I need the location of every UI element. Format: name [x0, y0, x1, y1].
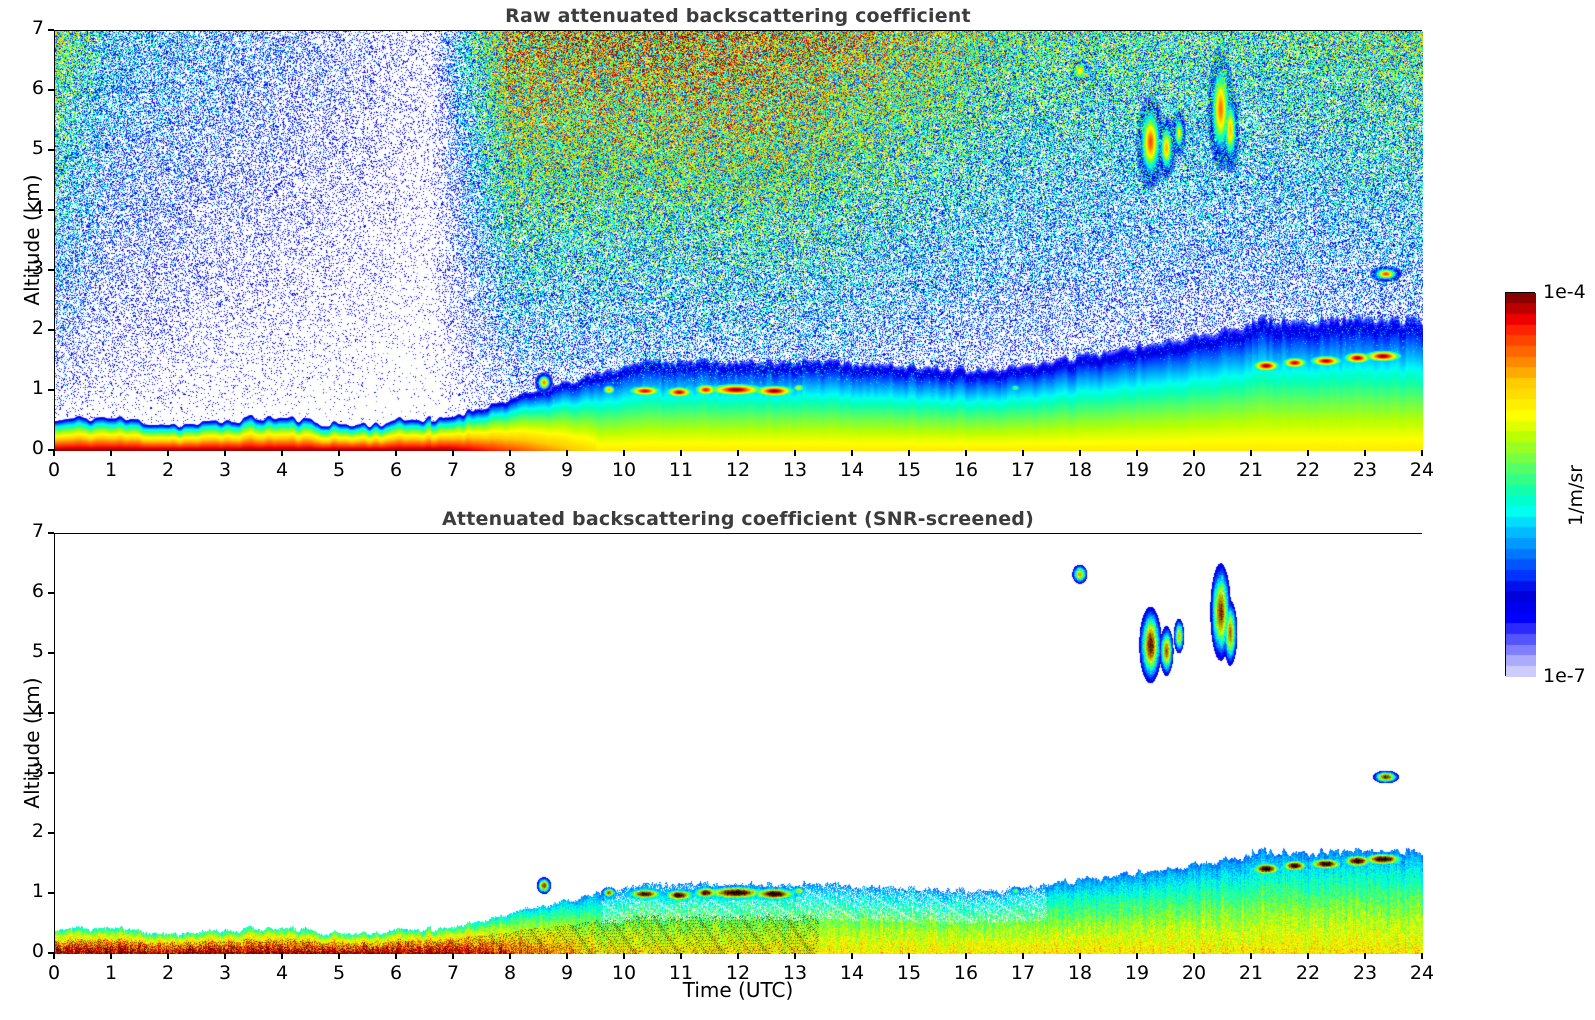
x-tickmark: [1022, 450, 1023, 456]
y-tickmark: [48, 832, 54, 833]
x-tickmark: [737, 953, 738, 959]
y-tickmark: [48, 89, 54, 90]
heatmap-canvas-raw: [55, 31, 1423, 451]
x-tickmark: [1421, 450, 1422, 456]
x-tick-label: 0: [29, 459, 79, 481]
y-tickmark: [48, 952, 54, 953]
y-tick-label: 0: [6, 437, 44, 459]
x-tickmark: [281, 450, 282, 456]
y-tickmark: [48, 449, 54, 450]
x-tickmark: [1079, 953, 1080, 959]
x-tick-label: 5: [314, 459, 364, 481]
x-tick-label: 7: [428, 459, 478, 481]
x-tickmark: [509, 953, 510, 959]
panel-title-raw: Raw attenuated backscattering coefficien…: [54, 5, 1422, 27]
x-tickmark: [167, 450, 168, 456]
x-tickmark: [1250, 450, 1251, 456]
heatmap-canvas-screened: [55, 534, 1423, 954]
y-tickmark: [48, 329, 54, 330]
y-axis-label-raw: Altitude (km): [20, 170, 44, 310]
x-tickmark: [395, 953, 396, 959]
x-tickmark: [167, 953, 168, 959]
y-tick-label: 6: [6, 580, 44, 602]
x-tickmark: [224, 450, 225, 456]
x-tickmark: [281, 953, 282, 959]
x-tickmark: [737, 450, 738, 456]
y-tickmark: [48, 532, 54, 533]
x-tickmark: [338, 450, 339, 456]
figure-root: Raw attenuated backscattering coefficien…: [0, 0, 1595, 1020]
x-tickmark: [680, 953, 681, 959]
y-tickmark: [48, 389, 54, 390]
x-tickmark: [1193, 953, 1194, 959]
x-tick-label: 3: [200, 459, 250, 481]
x-tickmark: [1250, 953, 1251, 959]
x-tickmark: [623, 953, 624, 959]
y-tickmark: [48, 269, 54, 270]
y-tickmark: [48, 712, 54, 713]
y-tick-label: 5: [6, 137, 44, 159]
x-tickmark: [908, 953, 909, 959]
y-tick-label: 2: [6, 820, 44, 842]
x-tickmark: [566, 450, 567, 456]
x-axis-label: Time (UTC): [54, 978, 1422, 1002]
y-tickmark: [48, 149, 54, 150]
colorbar-max-label: 1e-4: [1543, 281, 1586, 303]
x-tick-label: 15: [884, 459, 934, 481]
y-tick-label: 0: [6, 940, 44, 962]
x-tickmark: [1079, 450, 1080, 456]
x-tick-label: 10: [599, 459, 649, 481]
y-tickmark: [48, 29, 54, 30]
x-tickmark: [1136, 450, 1137, 456]
x-tick-label: 13: [770, 459, 820, 481]
y-axis-label-screened: Altitude (km): [20, 673, 44, 813]
x-tickmark: [53, 953, 54, 959]
x-tick-label: 9: [542, 459, 592, 481]
x-tickmark: [395, 450, 396, 456]
y-tickmark: [48, 892, 54, 893]
x-tick-label: 6: [371, 459, 421, 481]
plot-area-screened[interactable]: [54, 533, 1422, 953]
x-tickmark: [53, 450, 54, 456]
x-tickmark: [794, 450, 795, 456]
x-tickmark: [1022, 953, 1023, 959]
y-tickmark: [48, 209, 54, 210]
x-tickmark: [509, 450, 510, 456]
x-tick-label: 11: [656, 459, 706, 481]
x-tickmark: [1136, 953, 1137, 959]
x-tickmark: [623, 450, 624, 456]
x-tickmark: [110, 450, 111, 456]
x-tickmark: [680, 450, 681, 456]
colorbar-min-label: 1e-7: [1543, 665, 1586, 687]
x-tickmark: [110, 953, 111, 959]
x-tickmark: [452, 953, 453, 959]
x-tickmark: [1364, 450, 1365, 456]
x-tickmark: [452, 450, 453, 456]
x-tick-label: 24: [1397, 459, 1447, 481]
x-tickmark: [1421, 953, 1422, 959]
x-tickmark: [1307, 953, 1308, 959]
y-tickmark: [48, 772, 54, 773]
x-tickmark: [851, 953, 852, 959]
x-tickmark: [851, 450, 852, 456]
x-tickmark: [1193, 450, 1194, 456]
x-tick-label: 8: [485, 459, 535, 481]
x-tickmark: [908, 450, 909, 456]
x-tick-label: 21: [1226, 459, 1276, 481]
x-tick-label: 12: [713, 459, 763, 481]
x-tick-label: 14: [827, 459, 877, 481]
x-tick-label: 16: [941, 459, 991, 481]
x-tick-label: 22: [1283, 459, 1333, 481]
x-tick-label: 17: [998, 459, 1048, 481]
x-tick-label: 23: [1340, 459, 1390, 481]
x-tickmark: [1307, 450, 1308, 456]
y-tickmark: [48, 592, 54, 593]
x-tickmark: [1364, 953, 1365, 959]
x-tick-label: 2: [143, 459, 193, 481]
colorbar-unit-label: 1/m/sr: [1565, 465, 1587, 526]
y-tick-label: 5: [6, 640, 44, 662]
x-tick-label: 4: [257, 459, 307, 481]
x-tickmark: [338, 953, 339, 959]
x-tick-label: 20: [1169, 459, 1219, 481]
x-tick-label: 19: [1112, 459, 1162, 481]
y-tick-label: 7: [6, 17, 44, 39]
y-tick-label: 1: [6, 880, 44, 902]
colorbar[interactable]: [1505, 292, 1535, 676]
x-tickmark: [965, 450, 966, 456]
y-tick-label: 1: [6, 377, 44, 399]
colorbar-gradient: [1506, 293, 1536, 677]
y-tick-label: 7: [6, 520, 44, 542]
y-tickmark: [48, 652, 54, 653]
x-tick-label: 18: [1055, 459, 1105, 481]
x-tickmark: [566, 953, 567, 959]
x-tick-label: 1: [86, 459, 136, 481]
plot-area-raw[interactable]: [54, 30, 1422, 450]
panel-title-screened: Attenuated backscattering coefficient (S…: [54, 508, 1422, 530]
y-tick-label: 2: [6, 317, 44, 339]
x-tickmark: [965, 953, 966, 959]
x-tickmark: [794, 953, 795, 959]
x-tickmark: [224, 953, 225, 959]
y-tick-label: 6: [6, 77, 44, 99]
